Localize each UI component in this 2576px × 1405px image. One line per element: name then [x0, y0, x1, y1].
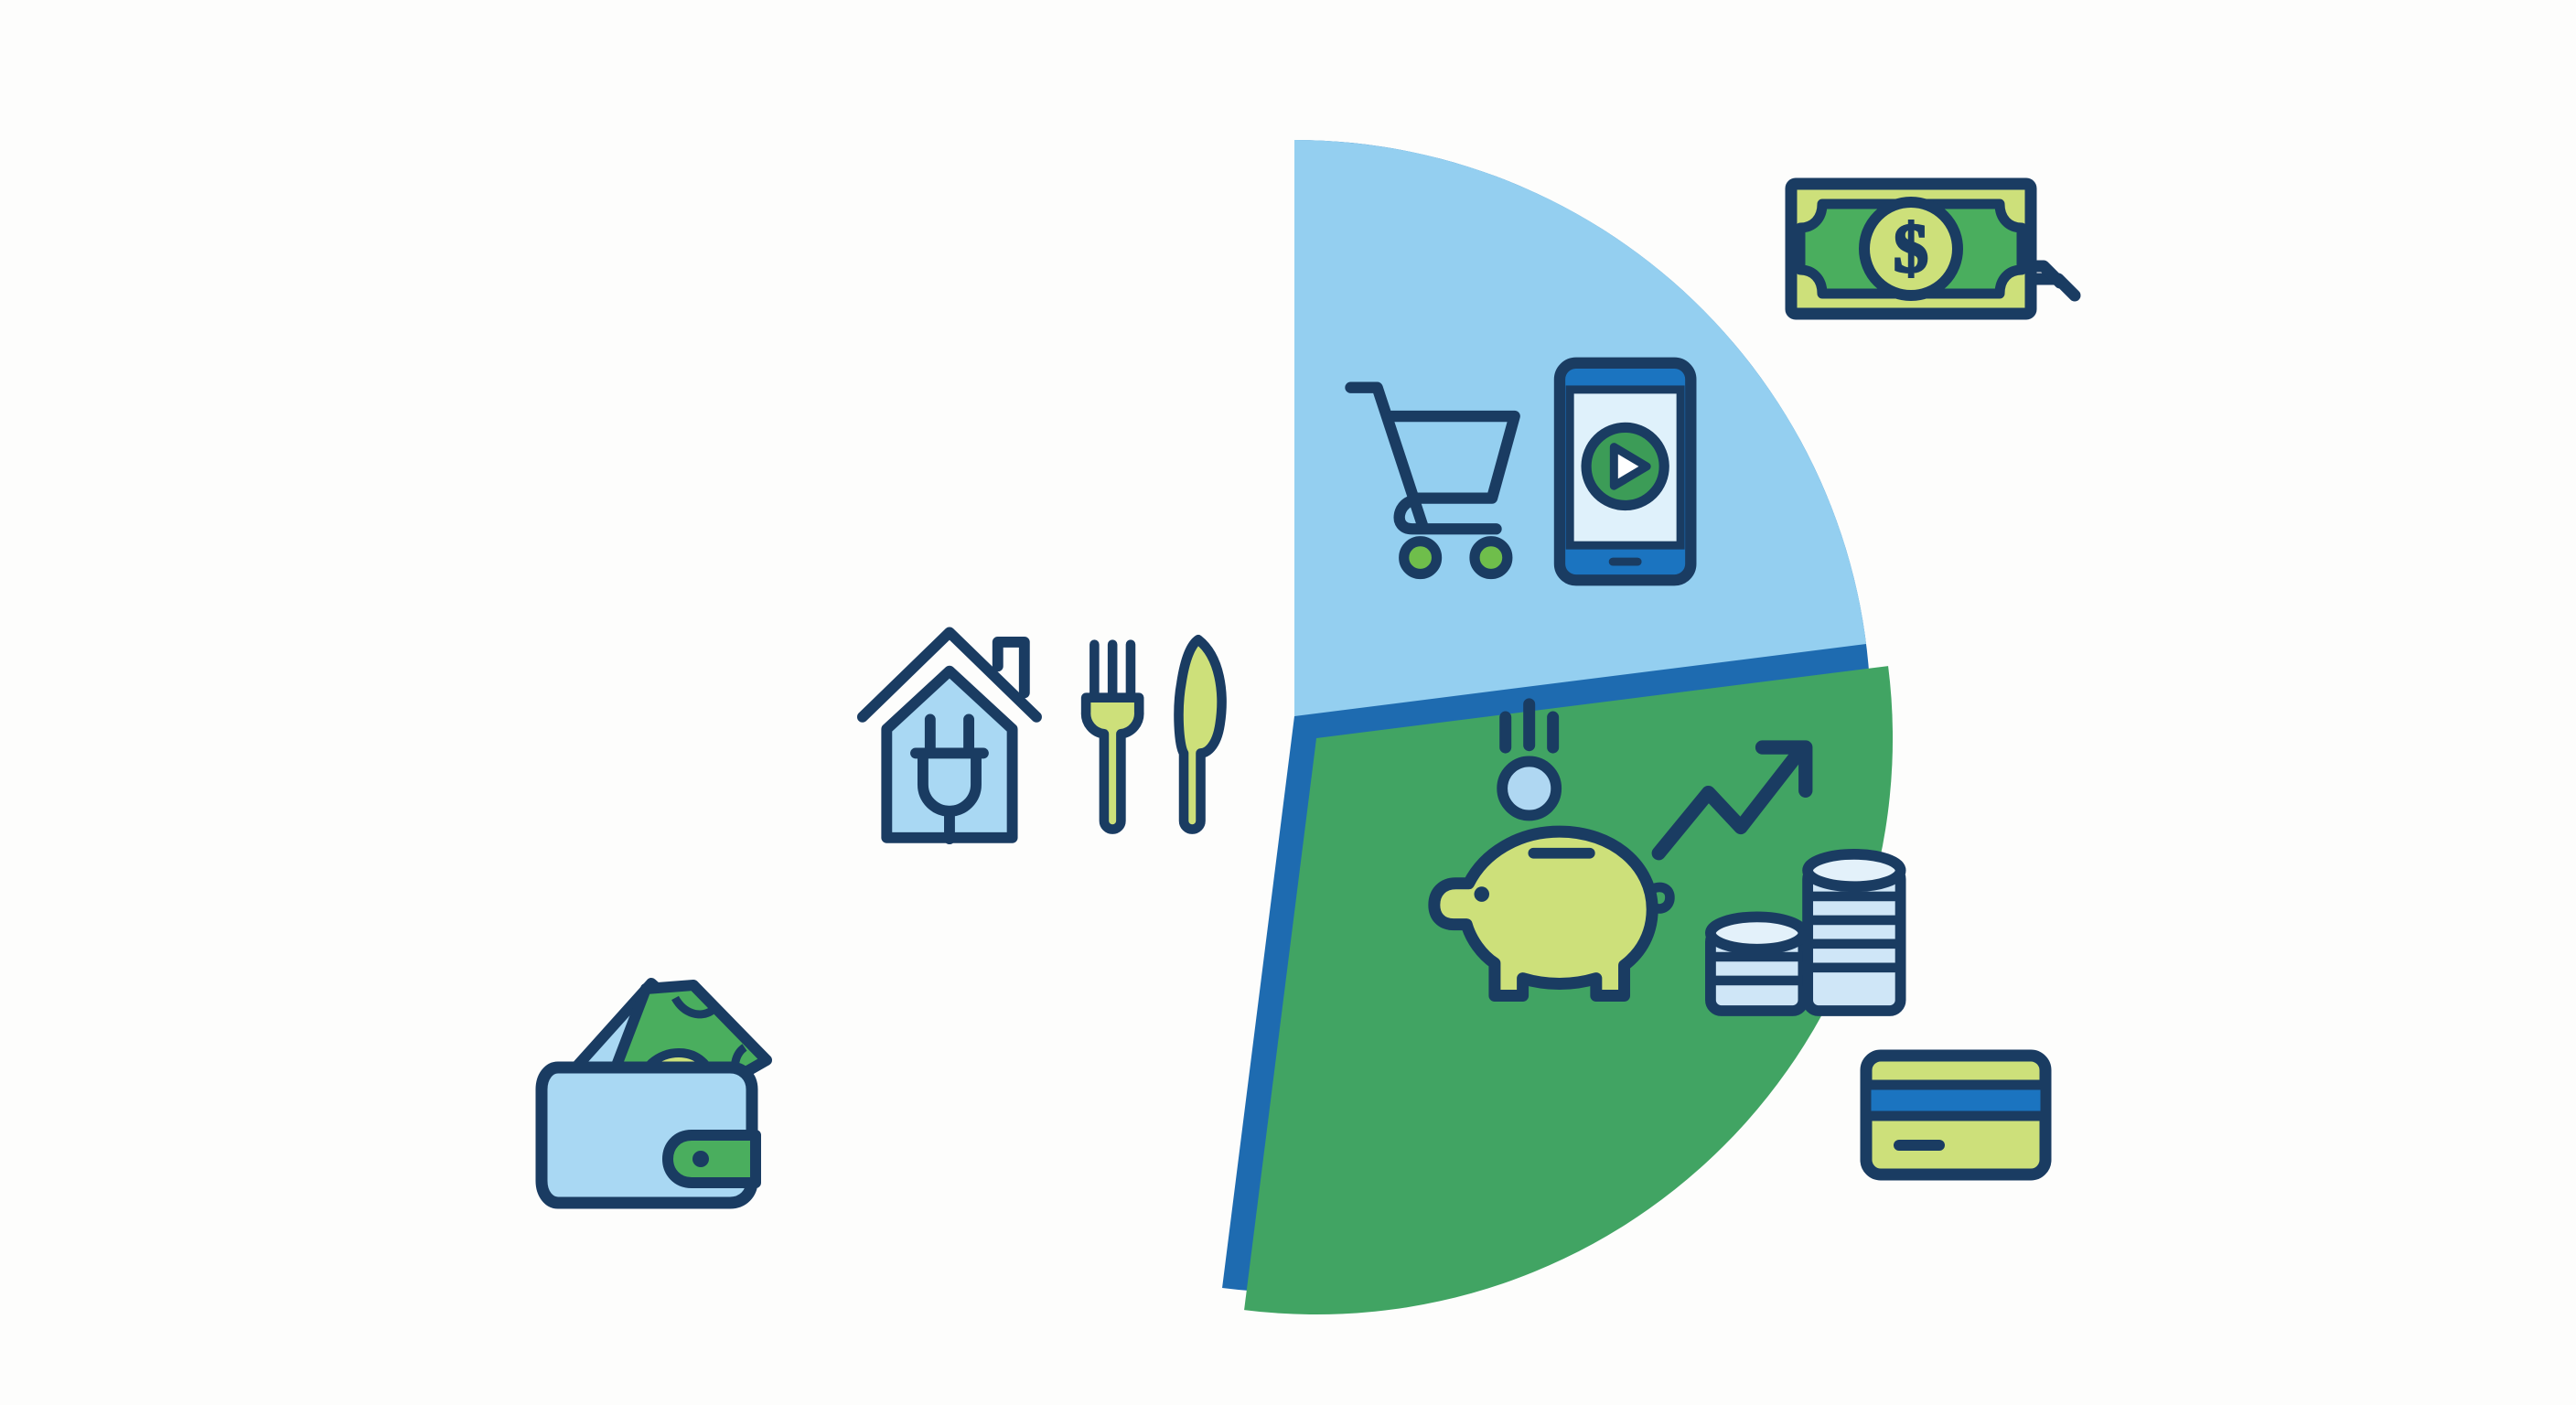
credit-card-icon: [1866, 1056, 2045, 1174]
smartphone-play-icon: [1560, 363, 1690, 580]
dollar-symbol: $: [1894, 210, 1928, 287]
coin-icon: [1502, 761, 1556, 815]
banknotes-icon: $: [1791, 184, 2075, 314]
coin-stack-large-icon: [1808, 854, 1900, 1011]
pie-chart-illustration: $: [0, 0, 2576, 1405]
illustration-canvas: $: [0, 0, 2576, 1405]
coin-stack-small-icon: [1711, 917, 1803, 1011]
